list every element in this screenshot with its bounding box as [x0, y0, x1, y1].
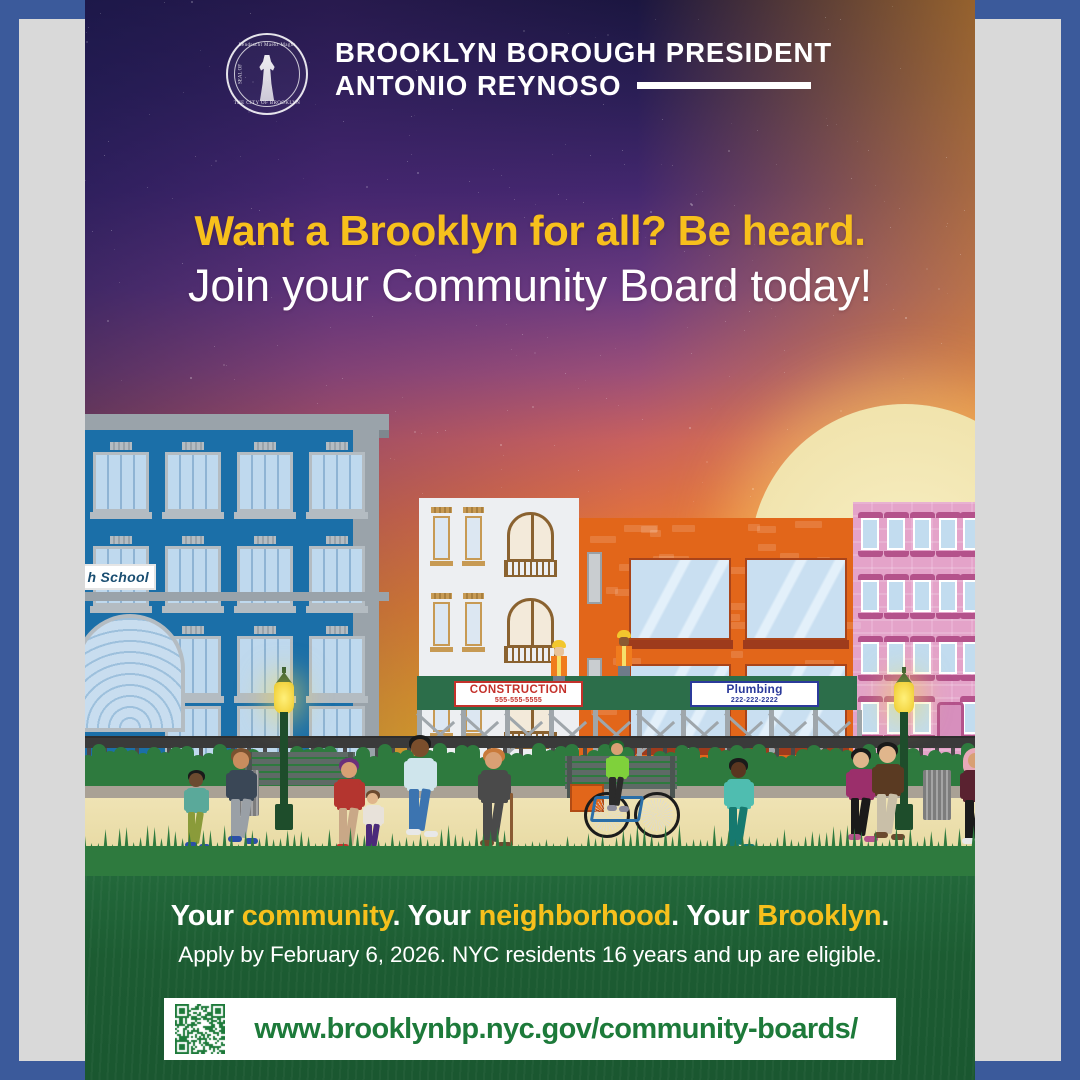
- school-window-sill: [90, 606, 152, 613]
- worker-head: [619, 637, 629, 646]
- townhouse-arched-window: [507, 512, 554, 562]
- header-line-2: ANTONIO REYNOSO: [335, 70, 621, 101]
- tagline-w1: Your: [171, 900, 242, 932]
- school-window-sill: [306, 606, 368, 613]
- pedestrian-adult-red: [333, 758, 366, 854]
- school-window-sill: [234, 512, 296, 519]
- seal-arc-left: SEAL OF: [238, 64, 243, 84]
- trash-can-2: [923, 770, 951, 820]
- townhouse-window: [465, 602, 482, 646]
- plumbing-sign-title: Plumbing: [726, 683, 782, 696]
- school-window-crown: [326, 536, 348, 544]
- townhouse-window-crown: [431, 507, 452, 513]
- townhouse-arched-window: [507, 598, 554, 648]
- school-window-sill: [306, 512, 368, 519]
- qr-code[interactable]: [175, 1004, 225, 1054]
- brownstone-window: [913, 580, 931, 612]
- school-arched-window: [85, 614, 185, 732]
- brownstone-window-sill: [884, 613, 909, 619]
- townhouse-window-sill: [430, 647, 453, 652]
- construction-sign-phone: 555-555-5555: [495, 696, 542, 705]
- brownstone-window: [861, 518, 879, 550]
- brownstone-window: [939, 580, 957, 612]
- tagline: Your community. Your neighborhood. Your …: [85, 898, 975, 934]
- brownstone-window: [887, 518, 905, 550]
- headline-secondary: Join your Community Board today!: [85, 257, 975, 315]
- townhouse-window-sill: [462, 561, 485, 566]
- brownstone-window-sill: [884, 551, 909, 557]
- safety-vest: [616, 646, 632, 666]
- pedestrian-adult-navy: [225, 748, 258, 846]
- brownstone-window-sill: [858, 613, 883, 619]
- url-bar[interactable]: www.brooklynbp.nyc.gov/community-boards/: [164, 998, 896, 1060]
- tagline-y2: neighborhood: [479, 900, 672, 932]
- worker-head: [554, 647, 564, 656]
- pedestrian-adult-teal: [723, 758, 755, 852]
- website-url[interactable]: www.brooklynbp.nyc.gov/community-boards/: [225, 1013, 893, 1046]
- school-window-crown: [182, 442, 204, 450]
- plumbing-shop-sign: Plumbing 222-222-2222: [690, 681, 819, 707]
- brownstone-window: [913, 702, 931, 734]
- school-window-sill: [162, 606, 224, 613]
- brooklyn-city-seal-icon: Eendracht Maekt Maght SEAL OF THE CITY O…: [226, 33, 308, 115]
- brownstone-window: [913, 518, 931, 550]
- bench-slat: [245, 752, 355, 757]
- brownstone-window-sill: [936, 675, 961, 681]
- school-window: [165, 452, 221, 512]
- headline-block: Want a Brooklyn for all? Be heard. Join …: [85, 205, 975, 315]
- school-window-crown: [254, 442, 276, 450]
- brownstone-window: [861, 580, 879, 612]
- school-window-crown: [326, 442, 348, 450]
- safety-vest: [551, 656, 567, 676]
- drain-pipe: [587, 552, 602, 604]
- tagline-w4: .: [881, 900, 889, 932]
- tagline-w3: . Your: [671, 900, 757, 932]
- seal-arc-bottom: THE CITY OF BROOKLYN: [228, 101, 306, 106]
- pedestrian-adult-lightblue: [403, 735, 438, 839]
- brownstone-window: [963, 580, 975, 612]
- lamp-lantern: [274, 682, 294, 714]
- poster-outer-frame: Eendracht Maekt Maght SEAL OF THE CITY O…: [0, 0, 1080, 1080]
- school-window-crown: [110, 536, 132, 544]
- school-window-sill: [234, 606, 296, 613]
- school-window: [309, 636, 365, 696]
- construction-worker-1: [550, 640, 568, 684]
- brownstone-window-sill: [960, 675, 975, 681]
- brownstone-window-sill: [910, 613, 935, 619]
- brownstone-window: [913, 642, 931, 674]
- townhouse-window-crown: [431, 593, 452, 599]
- brownstone-window-sill: [910, 551, 935, 557]
- brownstone-window-sill: [858, 551, 883, 557]
- school-window-crown: [326, 626, 348, 634]
- pedestrian-child-green: [183, 770, 210, 850]
- brownstone-window: [861, 702, 879, 734]
- tagline-y3: Brooklyn: [757, 900, 881, 932]
- brownstone-window-sill: [858, 675, 883, 681]
- pedestrian-adult-hijab: [959, 748, 975, 848]
- school-window-sill: [90, 512, 152, 519]
- townhouse-window-crown: [463, 593, 484, 599]
- message-band: Your community. Your neighborhood. Your …: [85, 876, 975, 1080]
- tagline-w2: . Your: [392, 900, 478, 932]
- school-window: [237, 452, 293, 512]
- construction-shop-sign: CONSTRUCTION 555-555-5555: [454, 681, 583, 707]
- school-window-sill: [306, 696, 368, 703]
- construction-worker-2: [615, 630, 633, 674]
- commercial-window-ledge: [743, 640, 849, 649]
- poster-header: Eendracht Maekt Maght SEAL OF THE CITY O…: [85, 24, 975, 120]
- street-lamp-left: [273, 672, 295, 830]
- seal-motto: Eendracht Maekt Maght: [228, 43, 306, 48]
- pedestrian-cyclist: [605, 740, 629, 812]
- townhouse-window-sill: [462, 647, 485, 652]
- school-window: [309, 452, 365, 512]
- brownstone-window: [939, 518, 957, 550]
- deadline-eligibility-text: Apply by February 6, 2026. NYC residents…: [85, 942, 975, 968]
- commercial-window: [745, 558, 847, 640]
- header-rule: [637, 82, 811, 89]
- school-window-crown: [110, 442, 132, 450]
- townhouse-window: [465, 516, 482, 560]
- brownstone-window: [963, 642, 975, 674]
- brownstone-window-sill: [936, 551, 961, 557]
- school-window: [93, 452, 149, 512]
- commercial-window-ledge: [627, 640, 733, 649]
- school-window-crown: [182, 536, 204, 544]
- townhouse-window-crown: [463, 507, 484, 513]
- pedestrian-senior-cane: [477, 748, 512, 850]
- brownstone-window: [963, 518, 975, 550]
- school-belt-course: [85, 592, 389, 601]
- community-board-poster: Eendracht Maekt Maght SEAL OF THE CITY O…: [85, 0, 975, 1080]
- townhouse-window-sill: [430, 561, 453, 566]
- school-window-sill: [162, 512, 224, 519]
- header-line-1: BROOKLYN BOROUGH PRESIDENT: [335, 36, 832, 69]
- brownstone-window-sill: [936, 613, 961, 619]
- worker-legs: [618, 666, 630, 676]
- plumbing-sign-phone: 222-222-2222: [731, 696, 778, 705]
- construction-sign-title: CONSTRUCTION: [470, 684, 567, 696]
- lamp-lantern: [894, 682, 914, 714]
- brownstone-window: [887, 580, 905, 612]
- tagline-y1: community: [242, 900, 393, 932]
- brownstone-window-sill: [960, 613, 975, 619]
- school-window-crown: [254, 536, 276, 544]
- townhouse-balcony: [504, 560, 557, 577]
- commercial-window: [629, 558, 731, 640]
- brownstone-window-sill: [960, 551, 975, 557]
- townhouse-window: [433, 516, 450, 560]
- brownstone-window: [861, 642, 879, 674]
- brownstone-window: [963, 702, 975, 734]
- headline-primary: Want a Brooklyn for all? Be heard.: [85, 205, 975, 257]
- townhouse-window: [433, 602, 450, 646]
- brownstone-window: [939, 642, 957, 674]
- lamp-base: [275, 804, 293, 830]
- header-text-block: BROOKLYN BOROUGH PRESIDENT ANTONIO REYNO…: [335, 36, 832, 102]
- pedestrian-adult-brown: [871, 742, 905, 842]
- school-window-crown: [254, 626, 276, 634]
- school-sign: h School: [85, 564, 156, 590]
- school-window-crown: [182, 626, 204, 634]
